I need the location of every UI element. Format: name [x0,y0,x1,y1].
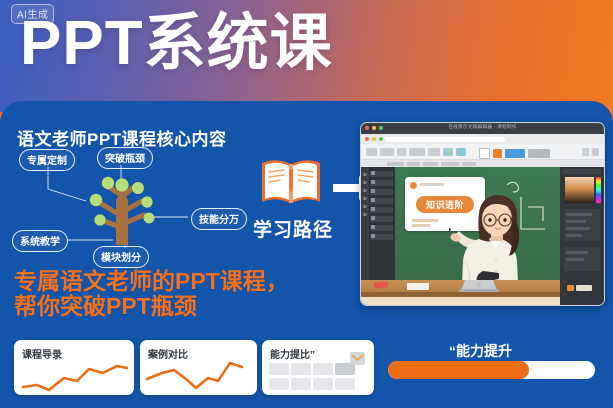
progress-bar-track[interactable] [388,361,595,379]
tab-item[interactable] [462,162,476,166]
line-chart-icon [19,361,131,393]
browser-maximize-icon[interactable] [379,137,383,141]
promo-headline: 专属语文老师的PPT课程， 帮你突破PPT瓶颈 [14,269,289,319]
panel-row[interactable] [566,213,592,216]
rail-tool-icon[interactable] [363,189,367,192]
editor-canvas[interactable]: 知识进阶 [361,167,604,306]
color-picker-gradient[interactable] [565,177,594,203]
open-book-icon [258,153,324,209]
editor-toolbar[interactable] [361,144,604,160]
panel-row[interactable] [566,227,590,230]
panel-row[interactable] [566,234,582,237]
active-color-swatch[interactable] [567,285,574,291]
tab-item[interactable] [407,162,420,166]
slide-text-line [412,219,438,222]
line-chart-icon [144,359,254,391]
browser-close-icon[interactable] [365,137,369,141]
toolbar-color-swatches[interactable] [479,148,550,159]
tab-item[interactable] [441,162,459,166]
layer-item[interactable] [370,216,393,222]
promo-headline-line2: 帮你突破PPT瓶颈 [14,294,289,319]
window-titlebar[interactable]: 在线演示文稿编辑器 - 课程制作 [361,123,604,134]
tree-label-4: 模块划分 [93,246,149,268]
tree-label-5: 技能分万 [191,208,247,230]
learning-path-block: 学习路径 [243,153,335,258]
panel-row[interactable] [566,258,584,261]
tool-button[interactable] [582,148,589,156]
grid-block [313,378,333,390]
tool-button[interactable] [443,148,453,156]
tab-item[interactable] [423,162,438,166]
rail-tool-icon[interactable] [363,173,367,176]
layer-item[interactable] [370,234,393,240]
slide-text-line [412,224,430,227]
tool-button[interactable] [456,148,466,156]
rail-tool-icon[interactable] [363,205,367,208]
poster-header: AI生成 PPT系统课 [0,0,613,112]
layers-panel[interactable] [370,170,393,243]
tree-label-3: 系统教学 [12,230,68,252]
editor-tab-row[interactable] [361,160,604,167]
panel-row[interactable] [566,251,588,254]
grid-block-highlight [335,363,355,375]
layer-item[interactable] [370,207,393,213]
tree-label-1: 专属定制 [19,149,75,171]
tool-button[interactable] [428,148,440,156]
properties-panel[interactable] [560,167,604,306]
tree-label-2: 突破瓶颈 [97,147,153,169]
grid-block [269,378,289,390]
swatch-gray[interactable] [528,149,550,158]
toolbar-group-right[interactable] [582,148,599,156]
card-course-index[interactable]: 课程导录 [14,340,134,395]
layer-item[interactable] [370,171,393,177]
swatch-orange[interactable] [493,149,502,158]
hue-slider[interactable] [596,177,601,203]
card-case-comparison[interactable]: 案例对比 [140,340,257,395]
secondary-color-swatch[interactable] [576,285,592,291]
layer-item[interactable] [370,225,393,231]
swatch-blue[interactable] [505,149,525,158]
learning-path-label: 学习路径 [243,215,343,242]
grid-block [313,363,333,375]
toolbar-group-left[interactable] [366,148,466,156]
card-title: 能力提比” [270,346,315,361]
browser-minimize-icon[interactable] [372,137,376,141]
panel-row[interactable] [566,220,586,223]
grid-block [269,363,289,375]
rail-tool-icon[interactable] [363,213,367,216]
browser-traffic-lights[interactable] [365,137,383,141]
tool-button[interactable] [380,148,394,156]
card-ability-comparison[interactable]: 能力提比” [262,340,374,395]
layer-item[interactable] [370,180,393,186]
progress-caption: “能力提升 [449,341,512,361]
panel-header [563,169,601,174]
address-bar[interactable] [385,137,505,143]
layer-item[interactable] [370,189,393,195]
card-title: 课程导录 [22,346,62,361]
tab-item[interactable] [387,162,404,166]
layer-item[interactable] [370,198,393,204]
browser-toolbar[interactable] [361,134,604,144]
page-title: PPT系统课 [20,6,333,82]
swatch-white[interactable] [479,148,490,159]
progress-bar-fill [388,361,529,379]
slide-logo-icon [410,182,417,189]
poster-root: AI生成 PPT系统课 语文老师PPT课程核心内容 [0,0,613,408]
promo-headline-line1: 专属语文老师的PPT课程， [14,269,289,294]
tool-button[interactable] [397,148,406,156]
grid-block [335,378,355,390]
slide-logo-text [420,183,444,186]
tool-button[interactable] [592,148,599,156]
rail-tool-icon[interactable] [363,197,367,200]
knowledge-tree-diagram: 专属定制 突破瓶颈 系统教学 模块划分 技能分万 [8,145,248,260]
window-title: 在线演示文稿编辑器 - 课程制作 [361,124,604,130]
rail-tool-icon[interactable] [363,181,367,184]
grid-block [291,378,311,390]
grid-block [291,363,311,375]
tool-button[interactable] [409,148,425,156]
tool-button[interactable] [366,148,377,156]
editor-app-window[interactable]: 在线演示文稿编辑器 - 课程制作 [360,122,605,306]
